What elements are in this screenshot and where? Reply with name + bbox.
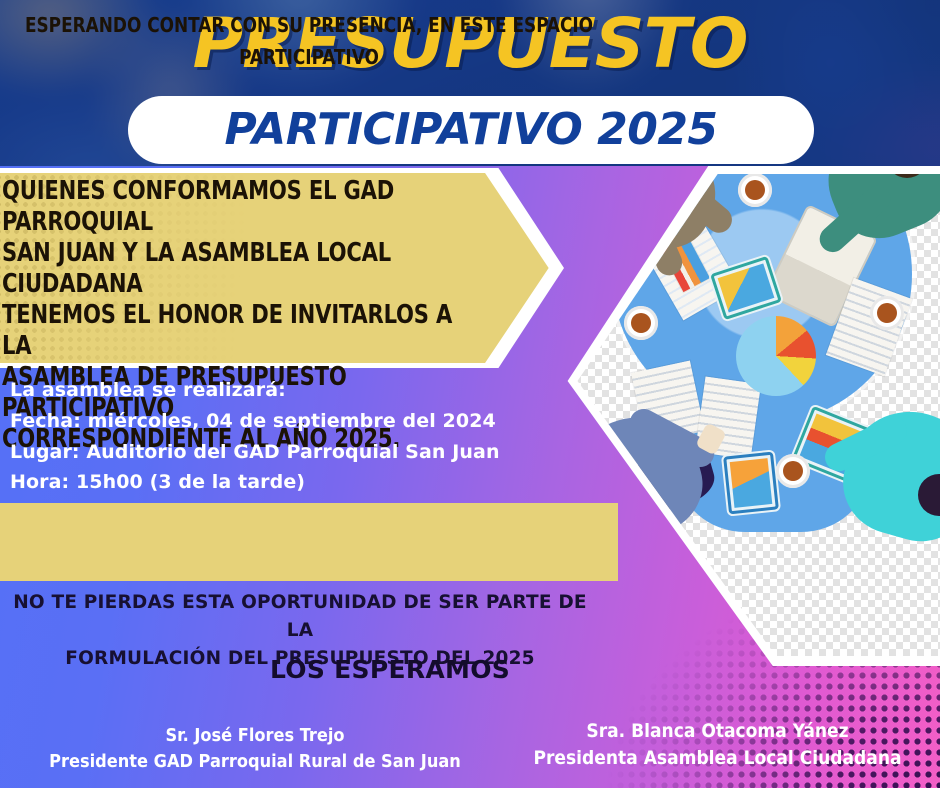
coffee-cup-icon [776,454,810,488]
cta-line-1: NO TE PIERDAS ESTA OPORTUNIDAD DE SER PA… [0,589,600,645]
tablet-icon [723,452,779,515]
details-place: Lugar: Auditorio del GAD Parroquial San … [10,437,530,468]
coffee-cup-icon [624,306,658,340]
intro-line: TENEMOS EL HONOR DE INVITARLOS A LA [2,300,462,362]
expectation-line-2: PARTICIPATIVO [19,41,600,73]
closing-statement: LOS ESPERAMOS [0,655,780,684]
pie-chart-icon [736,316,816,396]
poster-subtitle: PARTICIPATIVO 2025 [224,108,717,152]
details-date: Fecha: miércoles, 04 de septiembre del 2… [10,406,530,437]
poster-canvas: PRESUPUESTO PARTICIPATIVO 2025 [0,0,940,788]
intro-line: SAN JUAN Y LA ASAMBLEA LOCAL CIUDADANA [2,238,462,300]
expectation-band-text: ESPERANDO CONTAR CON SU PRESENCIA, EN ES… [19,9,600,74]
signature-left: Sr. José Flores Trejo Presidente GAD Par… [30,723,480,774]
subtitle-pill: PARTICIPATIVO 2025 [128,96,814,164]
expectation-line-1: ESPERANDO CONTAR CON SU PRESENCIA, EN ES… [19,9,600,41]
coffee-cup-icon [870,296,904,330]
signature-right-role: Presidenta Asamblea Local Ciudadana [495,745,940,772]
signature-right-name: Sra. Blanca Otacoma Yánez [495,718,940,745]
signature-left-role: Presidente GAD Parroquial Rural de San J… [30,749,480,775]
details-time: Hora: 15h00 (3 de la tarde) [10,467,530,498]
event-details: La asamblea se realizará: Fecha: miércol… [10,375,530,498]
expectation-band [0,503,618,581]
intro-chevron-block: QUIENES CONFORMAMOS EL GAD PARROQUIAL SA… [0,168,564,368]
signature-left-name: Sr. José Flores Trejo [30,723,480,749]
intro-line: QUIENES CONFORMAMOS EL GAD PARROQUIAL [2,176,462,238]
signature-right: Sra. Blanca Otacoma Yánez Presidenta Asa… [495,718,940,772]
details-intro-line: La asamblea se realizará: [10,375,530,406]
coffee-cup-icon [738,173,772,207]
